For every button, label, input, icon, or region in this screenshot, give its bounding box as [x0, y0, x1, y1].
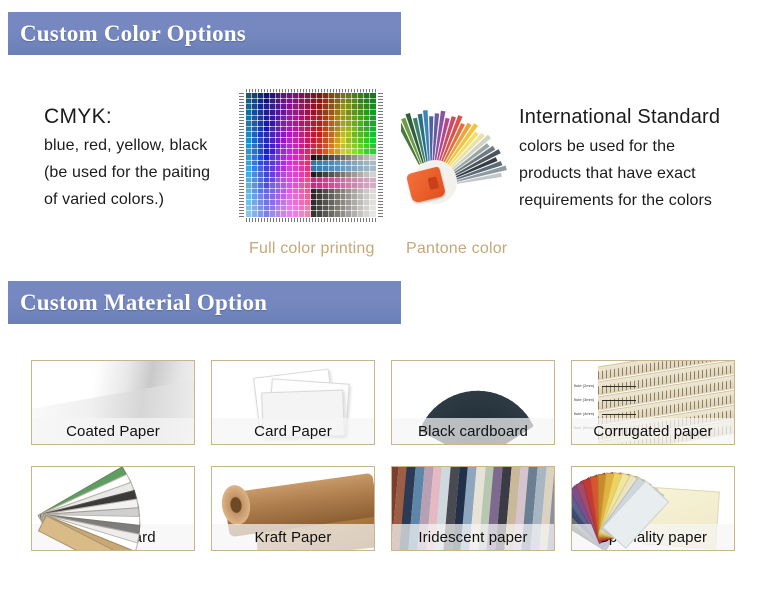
section-header-material-option: Custom Material Option [8, 281, 401, 324]
international-line-3: requirements for the colors [519, 187, 759, 214]
material-label: Corrugated paper [572, 423, 734, 440]
material-label: Kraft Paper [212, 529, 374, 546]
cmyk-line-2: (be used for the paiting [44, 159, 244, 186]
material-cell-card-paper[interactable]: Card Paper [211, 360, 375, 445]
corrugated-annotation: flute (2mm) [574, 383, 594, 388]
corrugated-annotation: flute (3mm) [574, 397, 594, 402]
material-cell-speciality-paper[interactable]: Speciality paper [571, 466, 735, 551]
product-description-page: Custom Color Options CMYK: blue, red, ye… [0, 0, 768, 589]
corrugated-leader-line [602, 414, 636, 415]
cmyk-text-block: CMYK: blue, red, yellow, black (be used … [44, 102, 244, 213]
material-label: Coated Paper [32, 423, 194, 440]
cmyk-color-chart-image [237, 88, 385, 223]
international-line-1: colors be used for the [519, 133, 759, 160]
corrugated-annotation: flute (4mm) [574, 411, 594, 416]
material-cell-coated-paper[interactable]: Coated Paper [31, 360, 195, 445]
cmyk-heading: CMYK: [44, 102, 244, 132]
chart-ruler-left [239, 93, 244, 217]
pantone-fan-svg [401, 92, 523, 222]
international-heading: International Standard [519, 102, 759, 133]
section-header-color-options: Custom Color Options [8, 12, 401, 55]
color-options-content: CMYK: blue, red, yellow, black (be used … [0, 60, 768, 270]
material-cell-black-cardboard[interactable]: Black cardboard [391, 360, 555, 445]
material-cell-corrugated-paper[interactable]: flute (2mm) flute (3mm) flute (4mm) flut… [571, 360, 735, 445]
material-cell-kraft-paper[interactable]: Kraft Paper [211, 466, 375, 551]
material-label: Card Paper [212, 423, 374, 440]
international-standard-text-block: International Standard colors be used fo… [519, 102, 759, 214]
section-title-color-options: Custom Color Options [8, 21, 246, 47]
material-option-grid: Coated Paper Card Paper Black cardboard [31, 360, 737, 551]
cmyk-line-1: blue, red, yellow, black [44, 132, 244, 159]
material-label: Black cardboard [392, 423, 554, 440]
international-line-2: products that have exact [519, 160, 759, 187]
chart-ruler-right [378, 93, 383, 217]
section-title-material-option: Custom Material Option [8, 290, 267, 316]
corrugated-leader-line [602, 386, 636, 387]
cmyk-swatch-grid [246, 93, 376, 217]
pantone-fan-image [401, 92, 523, 222]
caption-pantone-color: Pantone color [406, 240, 507, 258]
material-cell-iridescent-paper[interactable]: Iridescent paper [391, 466, 555, 551]
chart-ruler-bottom [246, 218, 376, 222]
cmyk-line-3: of varied colors.) [44, 186, 244, 213]
color-swatch [370, 211, 376, 217]
corrugated-leader-line [602, 400, 636, 401]
material-label: Iridescent paper [392, 529, 554, 546]
material-cell-paper-board[interactable]: Paper Board [31, 466, 195, 551]
caption-full-color-printing: Full color printing [249, 240, 375, 258]
